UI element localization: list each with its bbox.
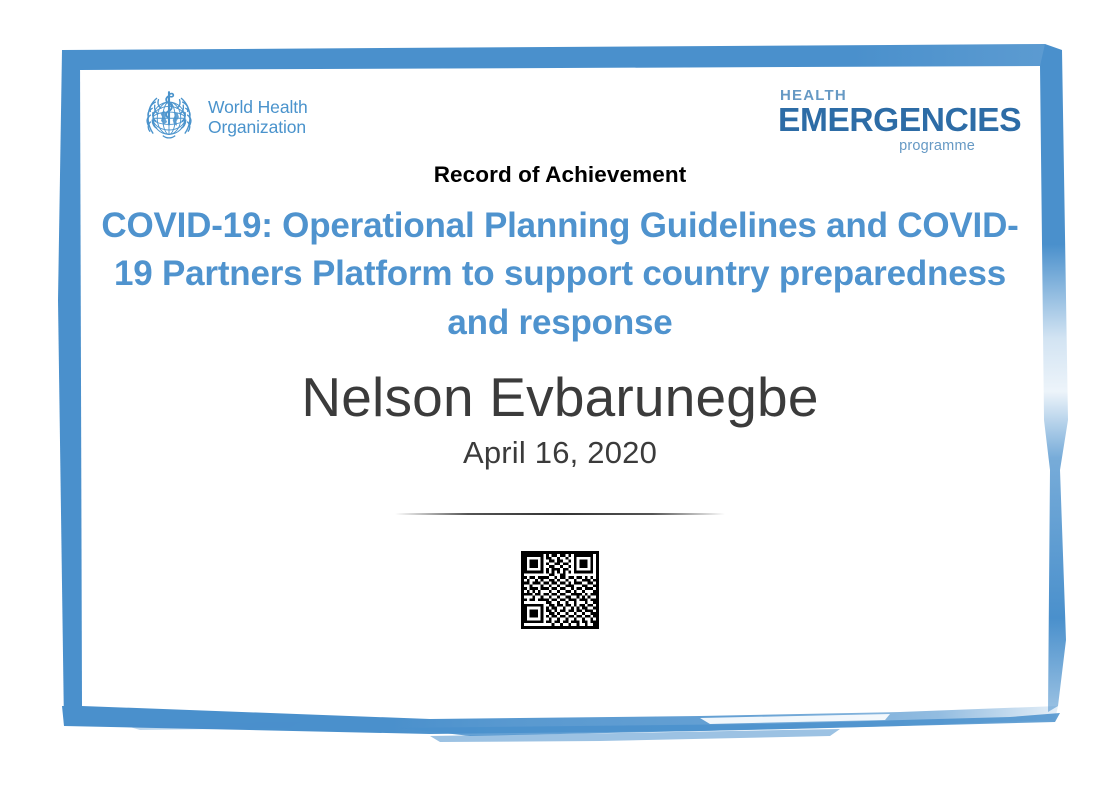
he-emergencies-text: EMERGENCIES: [778, 104, 978, 138]
health-emergencies-logo: HEALTH EMERGENCIES programme: [778, 88, 978, 154]
he-programme-text: programme: [778, 139, 975, 154]
issue-date: April 16, 2020: [80, 435, 1040, 471]
frame-bottom-brush-wisp-2: [430, 729, 840, 742]
who-wordmark-line1: World Health: [208, 97, 308, 117]
who-logo: World Health Organization: [138, 86, 308, 148]
qr-wrap: [80, 551, 1040, 629]
he-health-text: HEALTH: [780, 88, 978, 103]
course-title: COVID-19: Operational Planning Guideline…: [80, 202, 1040, 347]
who-emblem-icon: [138, 86, 200, 148]
who-wordmark-line2: Organization: [208, 117, 308, 137]
frame-bottom-brush-wisp-3: [120, 722, 300, 730]
recipient-name: Nelson Evbarunegbe: [80, 369, 1040, 427]
certificate-content: World Health Organization HEALTH EMERGEN…: [80, 62, 1040, 722]
record-of-achievement-label: Record of Achievement: [80, 162, 1040, 188]
horizontal-rule: [395, 513, 725, 515]
divider-wrap: [80, 513, 1040, 515]
logo-row: World Health Organization HEALTH EMERGEN…: [80, 62, 1040, 142]
qr-code[interactable]: [521, 551, 599, 629]
frame-left-edge: [58, 50, 82, 726]
certificate-page: World Health Organization HEALTH EMERGEN…: [0, 0, 1119, 800]
frame-right-edge: [1040, 44, 1068, 712]
who-wordmark: World Health Organization: [208, 97, 308, 138]
